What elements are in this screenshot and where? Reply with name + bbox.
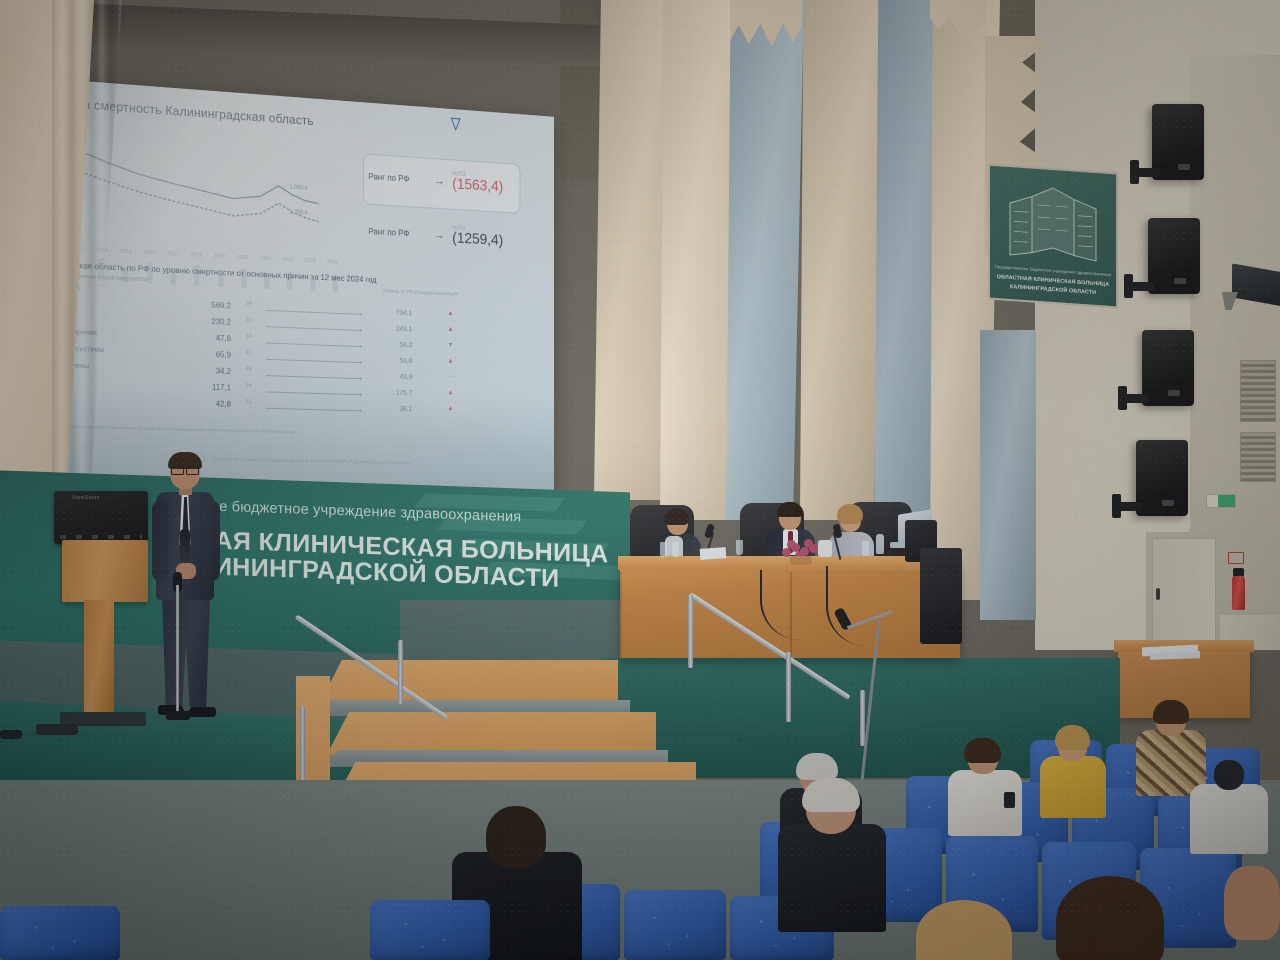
chart-year-tick: 2017 [167,251,179,257]
mortality-trend-chart: 1 563,4 1 259,4 [6,111,361,259]
chart-year-tick: 2014 [96,247,108,253]
projection-screen: ...зованная смертность Калининградская о… [0,74,554,493]
row-dash: – [423,357,435,363]
table-microphone-head-1 [704,523,715,538]
water-bottle [876,534,884,554]
hospital-building-icon [1002,180,1104,265]
person-right-hair [837,504,863,524]
row-trend-icon: ▲ [445,358,455,365]
hospital-logo-plaque: Государственное бюджетное учреждение здр… [988,163,1118,308]
speaker-bracket-arm-3 [1118,386,1127,410]
vent-grille-2 [1240,432,1276,482]
monitor-brand-label: ViewSonic [72,495,100,501]
row-arrow-icon: → [354,339,364,351]
auditorium-photo: ...зованная смертность Калининградская о… [0,0,1280,960]
row-trend-icon: ▼ [445,342,455,349]
chart-year-tick: 2016 [144,250,156,256]
person-head [1224,866,1280,940]
row-rf-value: 175,7 [377,387,412,397]
handrail-post-left-1 [300,706,305,782]
water-glass-2 [672,542,679,557]
presenter-arm-left [152,501,169,581]
chart-year-tick: 2024 [327,259,338,265]
person-hair [1056,876,1164,960]
presenter-shoe-right [188,707,216,717]
row-rank: 54 [240,334,257,340]
person-body [1190,784,1268,854]
row-dash: – [423,341,435,347]
slide-table-col-header: Уровень по РФ (стандартизованный)* [382,288,458,297]
presenter [150,455,222,725]
flower-vase [790,556,812,565]
person-body [778,824,886,932]
chart-year-tick: 2019 [214,253,225,259]
row-arrow-icon: → [354,371,364,383]
presenter-legs [162,597,210,709]
chart-end-label-top: 1 563,4 [290,185,308,192]
floor-microphone-base [166,711,190,720]
wall-speaker-2 [1148,218,1200,294]
smartphone[interactable] [1004,792,1015,808]
row-rf-value: 243,1 [377,323,412,333]
row-value: 47,6 [194,332,231,343]
auditorium-door[interactable] [1152,538,1216,652]
handrail-post-right-2 [786,652,791,722]
rank-arrow-2: → [426,227,452,242]
person-hair [964,738,1001,763]
row-value: 230,2 [194,316,231,327]
row-value: 569,2 [194,299,231,310]
handrail-post-right-1 [688,594,693,668]
row-rank: 24 [240,383,257,389]
chart-year-tick: 2010 [0,243,12,250]
row-connector [266,326,356,331]
chart-year-tick: 2018 [191,252,202,258]
row-arrow-icon: → [354,323,364,335]
paper-cup [818,540,832,557]
proscenium-beam [0,0,620,68]
floor-speaker-large [920,548,962,644]
row-connector [266,375,356,379]
rank-arrow-1: → [426,173,452,189]
handheld-microphone [180,529,190,563]
water-glass-4 [862,541,869,556]
row-value: 42,8 [194,398,231,409]
row-dash: – [423,389,435,395]
seat[interactable] [0,906,120,960]
row-arrow-icon: → [354,355,364,367]
chart-end-label-bottom: 1 259,4 [290,210,308,217]
stage-floor-object-2 [0,730,22,739]
row-arrow-icon: → [354,404,364,416]
person-hair [1153,700,1189,724]
step-riser-3 [326,712,656,756]
presenter-arm-right [203,501,220,581]
slide-logo-icon [450,116,462,132]
slide-footnote: * Стандартизованные коэффициенты смертно… [8,422,319,443]
wall-speaker-3 [1142,330,1194,406]
rank-value-2: (1259,4) [452,231,503,249]
person-hair [796,753,838,780]
row-connector [266,408,356,411]
rank-value-1: (1563,4) [452,177,503,196]
handrail-post-left-2 [398,640,403,704]
person-body [1040,756,1106,818]
row-rank: 51 [240,399,257,405]
row-value: 117,1 [194,381,231,392]
row-value: 65,9 [194,348,231,359]
person-head [1214,760,1244,790]
chart-year-tick: 2021 [260,256,271,262]
slide-source-note: * Расчет ФГБУ «ЦНИИОИЗ» Минздрава России… [211,457,410,466]
handrail-post-right-3 [860,690,865,746]
chart-year-tick: 2022 [282,257,293,263]
presidium-table-seam-2 [620,572,622,658]
stage-floor-object-1 [36,724,78,735]
water-glass-1 [660,542,667,557]
fire-extinguisher-sign [1228,552,1244,564]
row-rf-value: 38,1 [377,403,412,412]
row-dash: – [423,325,435,331]
chart-year-tick: 2011 [24,244,36,251]
row-dash: – [423,405,435,411]
row-trend-icon: ▲ [445,389,455,396]
seat[interactable] [370,900,490,960]
chart-mini-bar [310,280,315,291]
vent-grille-1 [1240,360,1276,422]
row-value: 34,2 [194,365,231,376]
person-left-hair [664,508,689,525]
speaker-bracket-arm-4 [1112,494,1121,518]
row-connector [266,342,356,346]
presidium-document [700,547,727,560]
row-dash: – [423,309,435,315]
chart-year-tick: 2012 [48,245,60,252]
row-trend-icon: ▲ [445,310,455,317]
floor-microphone-stand [176,585,179,715]
row-rank: 46 [240,367,257,373]
person-hair [1055,725,1090,750]
row-connector [266,310,356,315]
row-connector [266,359,356,363]
water-glass-3 [736,540,743,555]
seat[interactable] [624,890,726,960]
row-rf-value: 58,2 [377,339,412,349]
podium-top [62,540,148,602]
row-rank: 25 [240,317,257,323]
presenter-glasses-icon [171,466,199,473]
exit-sign [1206,494,1236,508]
row-dash: – [423,373,435,379]
rank-row-2: Ранг по РФ → №58 (1259,4) [368,220,523,251]
chart-year-tick: 2020 [237,255,248,261]
chart-year-tick: 2015 [120,249,132,255]
step-riser-4 [318,660,618,706]
row-trend-icon: ▲ [445,326,455,333]
curtain-blue-3 [980,330,1036,620]
chart-year-tick: 2023 [305,258,316,264]
row-trend-icon: — [445,374,455,381]
row-arrow-icon: → [354,388,364,400]
row-cause: ...овообращения [6,291,179,307]
door-handle[interactable] [1156,588,1160,600]
person-center-hair [777,502,803,517]
person-hair [802,778,860,812]
chart-year-tick: 2013 [72,246,84,253]
row-rf-value: 734,1 [377,307,412,317]
fire-extinguisher [1232,576,1245,610]
row-trend-icon: ▲ [445,405,455,412]
podium-monitor: ViewSonic [54,491,148,544]
rank-label-2: Ранг по РФ [368,226,426,239]
person-head [486,806,546,868]
row-rank: 39 [240,301,257,307]
row-connector [266,391,356,395]
speaker-bracket-arm-1 [1130,160,1139,184]
row-rf-value: 53,8 [377,355,412,365]
podium-column [84,600,114,718]
speaker-bracket-arm-2 [1124,274,1133,298]
row-rf-value: 43,9 [377,371,412,381]
row-rank: 62 [240,350,257,356]
curtain-valance-2 [930,0,986,32]
chart-mini-bar [0,266,6,276]
rank-label-1: Ранг по РФ [368,172,426,185]
monitor-buttons[interactable] [60,535,142,539]
wall-speaker-4 [1136,440,1188,516]
row-arrow-icon: → [354,307,364,319]
